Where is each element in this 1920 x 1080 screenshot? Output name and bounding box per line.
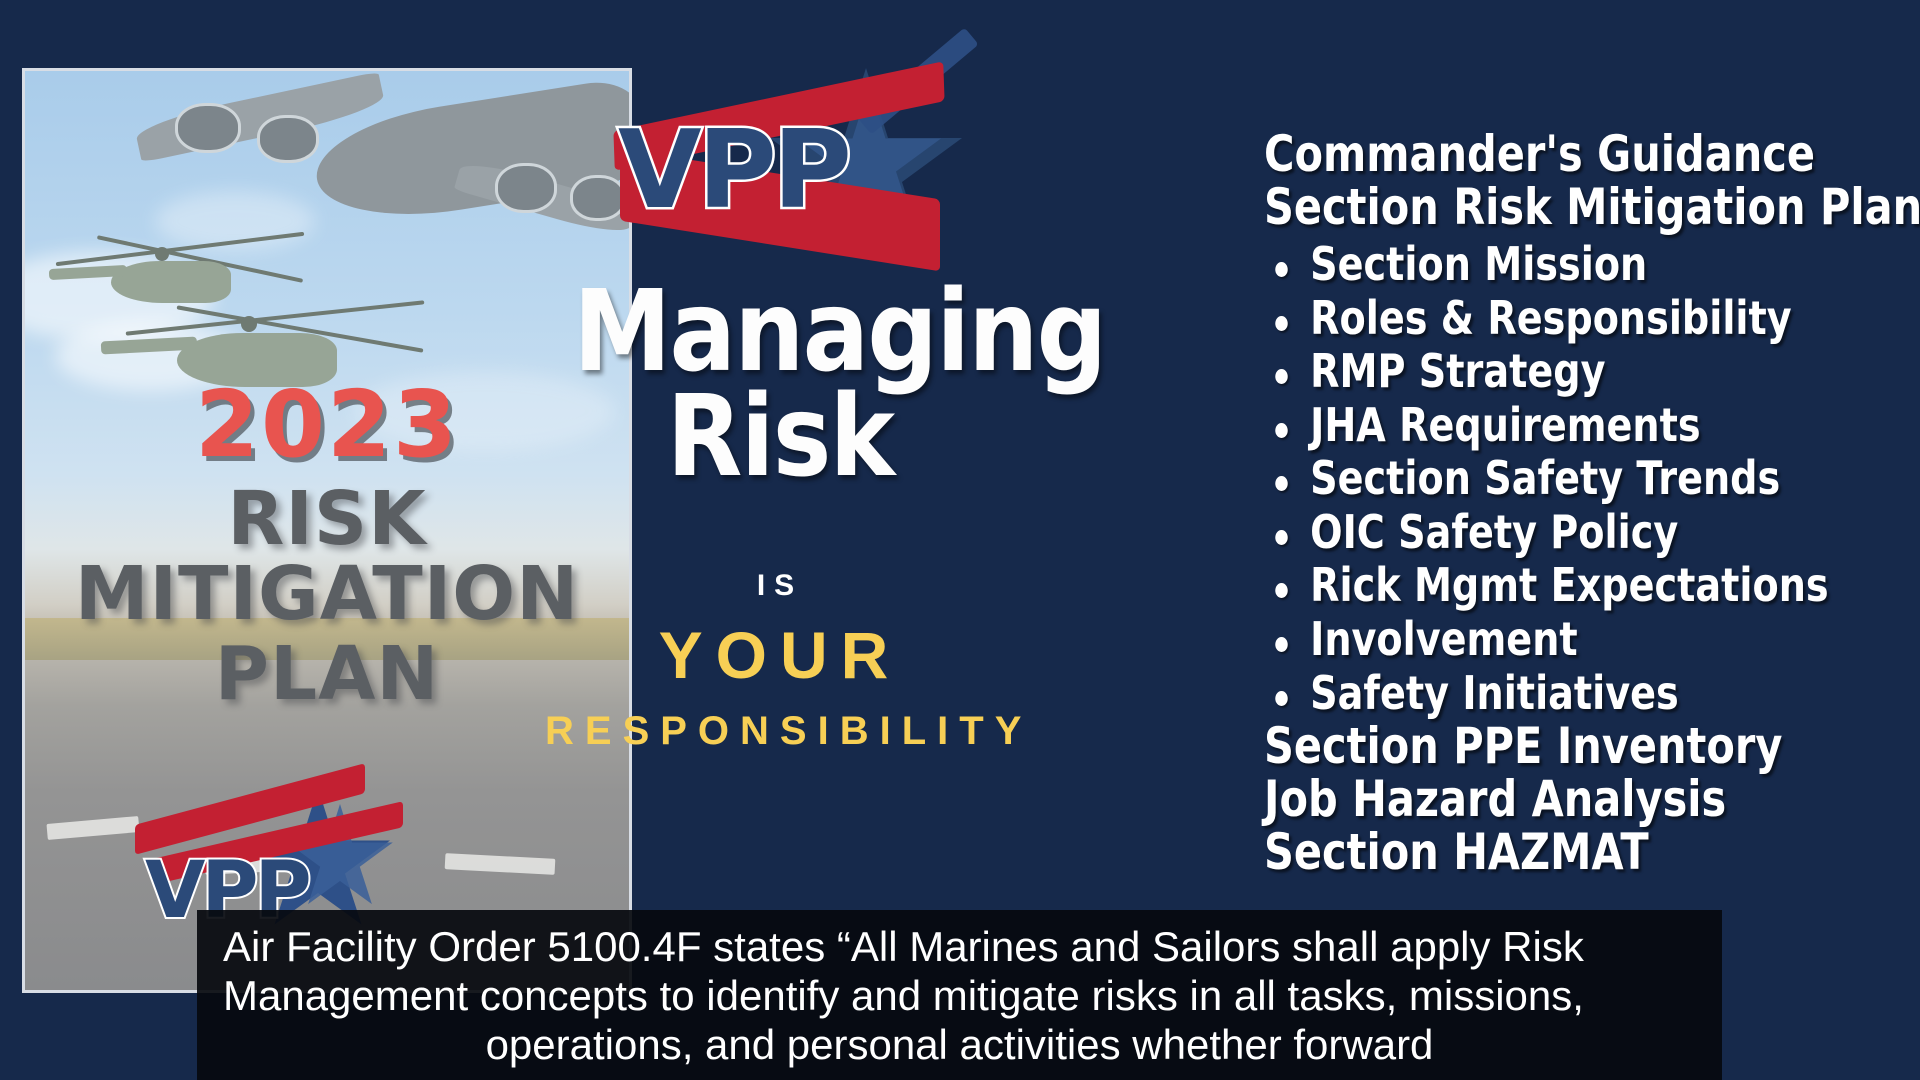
vpp-logo: VPP [598, 62, 968, 267]
list-item: OIC Safety Policy [1262, 506, 1793, 560]
title-line-risk: Risk [573, 385, 987, 490]
title-word-responsibility: RESPONSIBILITY [545, 709, 1015, 754]
list-item: Involvement [1262, 613, 1793, 667]
poster-line-mitigation: MITIGATION [25, 551, 629, 637]
poster-line-risk: RISK [25, 476, 629, 562]
list-item: Section Safety Trends [1262, 452, 1793, 506]
agenda-header-section-risk-mitigation-plan: Section Risk Mitigation Plan [1264, 181, 1794, 234]
list-item: Roles & Responsibility [1262, 292, 1793, 346]
title-word-is: IS [545, 569, 1015, 603]
title-line-managing: Managing [573, 280, 987, 385]
caption-overlay: Air Facility Order 5100.4F states “All M… [197, 910, 1722, 1080]
caption-line-2: Management concepts to identify and miti… [223, 971, 1696, 1020]
center-title-block: Managing Risk IS YOUR RESPONSIBILITY [545, 280, 1015, 754]
list-item: Rick Mgmt Expectations [1262, 559, 1793, 613]
caption-line-1: Air Facility Order 5100.4F states “All M… [223, 922, 1696, 971]
poster-line-plan: PLAN [25, 631, 629, 717]
list-item: JHA Requirements [1262, 399, 1793, 453]
agenda-footer-job-hazard-analysis: Job Hazard Analysis [1264, 773, 1794, 826]
poster-year: 2023 [25, 371, 629, 478]
agenda-header-commanders-guidance: Commander's Guidance [1264, 128, 1794, 181]
list-item: Safety Initiatives [1262, 667, 1793, 721]
agenda-list: Commander's Guidance Section Risk Mitiga… [1262, 128, 1902, 879]
list-item: RMP Strategy [1262, 345, 1793, 399]
vpp-logo-text: VPP [618, 108, 848, 233]
agenda-bullet-list: Section Mission Roles & Responsibility R… [1262, 238, 1902, 720]
agenda-footer-section-hazmat: Section HAZMAT [1264, 826, 1794, 879]
caption-line-3: operations, and personal activities whet… [223, 1020, 1696, 1069]
title-word-your: YOUR [545, 617, 1015, 693]
agenda-footer-section-ppe-inventory: Section PPE Inventory [1264, 720, 1794, 773]
slide-canvas: 2023 RISK MITIGATION PLAN VPP VPP Managi… [0, 0, 1920, 1080]
risk-mitigation-plan-poster: 2023 RISK MITIGATION PLAN VPP [22, 68, 632, 993]
list-item: Section Mission [1262, 238, 1793, 292]
